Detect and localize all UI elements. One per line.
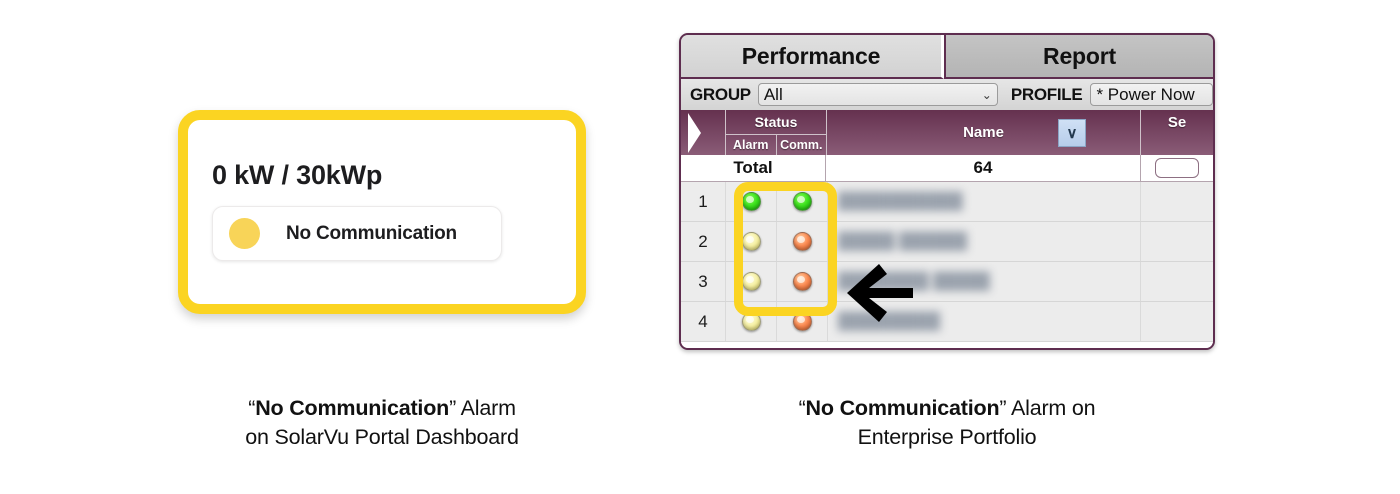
select-cell[interactable] [1141,182,1213,221]
tab-report-label: Report [1043,43,1116,70]
comm-status-cell[interactable] [777,262,828,301]
caption-right-quoted: No Communication [806,396,1000,420]
profile-select[interactable]: * Power Now [1090,83,1213,106]
tab-performance[interactable]: Performance [681,35,944,79]
caption-right: “No Communication” Alarm on Enterprise P… [679,394,1215,452]
total-row-label: Total [681,155,826,181]
select-cell[interactable] [1141,262,1213,301]
caption-right-rest: Alarm on [1006,396,1095,420]
name-column-header-label: Name [963,124,1004,141]
row-index: 3 [681,262,726,301]
select-cell[interactable] [1141,222,1213,261]
alarm-status-cell[interactable] [726,302,777,341]
status-dot-icon [229,218,260,249]
alarm-status-cell[interactable] [726,222,777,261]
table-row[interactable]: 4█████████ [681,302,1213,342]
portfolio-table: Status Alarm Comm. Name ∨ Se Total 64 [681,110,1213,348]
table-row[interactable]: 2█████ ██████ [681,222,1213,262]
filter-bar: GROUP All ⌄ PROFILE * Power Now [681,79,1213,110]
comm-status-led-orange-icon [793,312,812,331]
alarm-status-led-yellow-icon [742,272,761,291]
dashboard-card-content: 0 kW / 30kWp No Communication [212,162,552,261]
group-select-value: All [764,85,783,105]
dashboard-card: 0 kW / 30kWp No Communication [178,110,586,314]
alarm-status-cell[interactable] [726,182,777,221]
row-index: 1 [681,182,726,221]
comm-status-led-green-icon [793,192,812,211]
total-row-select-cell [1141,155,1213,181]
power-readout: 0 kW / 30kWp [212,162,552,189]
comm-status-cell[interactable] [777,182,828,221]
site-name-cell[interactable]: ███████████ [828,182,1141,221]
alarm-status-label: No Communication [286,223,457,245]
alarm-status-led-green-icon [742,192,761,211]
alarm-column-header[interactable]: Alarm [726,135,776,155]
table-body: 1███████████2█████ ██████3████████ █████… [681,182,1213,342]
select-cell[interactable] [1141,302,1213,341]
caption-left-line2: on SolarVu Portal Dashboard [245,425,518,449]
comm-status-led-orange-icon [793,232,812,251]
pointer-arrow-icon [845,260,915,326]
table-row[interactable]: 3████████ █████ [681,262,1213,302]
comm-status-cell[interactable] [777,222,828,261]
site-name-redacted: ███████████ [838,193,963,211]
enterprise-portfolio-panel: Performance Report GROUP All ⌄ PROFILE *… [679,33,1215,350]
table-header-row: Status Alarm Comm. Name ∨ Se [681,110,1213,155]
profile-label: PROFILE [1011,85,1083,105]
alarm-status-led-yellow-icon [742,232,761,251]
group-label: GROUP [690,85,751,105]
chevron-down-icon: ⌄ [982,89,992,101]
row-index-header [681,110,725,155]
name-sort-chevron-down-icon[interactable]: ∨ [1058,119,1086,147]
comm-status-led-orange-icon [793,272,812,291]
row-index: 4 [681,302,726,341]
row-index: 2 [681,222,726,261]
comm-status-cell[interactable] [777,302,828,341]
alarm-status-pill[interactable]: No Communication [212,206,502,261]
portfolio-window: Performance Report GROUP All ⌄ PROFILE *… [679,33,1215,350]
status-header-label: Status [726,110,826,135]
status-subheader-row: Alarm Comm. [726,135,826,155]
table-row[interactable]: 1███████████ [681,182,1213,222]
profile-select-value: * Power Now [1096,85,1194,105]
caption-left-quoted: No Communication [255,396,449,420]
caption-right-line1: “No Communication” Alarm on [799,396,1096,420]
status-header-group: Status Alarm Comm. [725,110,827,155]
caption-left-line1: “No Communication” Alarm [248,396,516,420]
caption-left: “No Communication” Alarm on SolarVu Port… [178,394,586,452]
comm-column-header[interactable]: Comm. [776,135,827,155]
tab-report[interactable]: Report [944,35,1213,79]
name-column-header[interactable]: Name ∨ [827,110,1141,155]
caption-right-line2: Enterprise Portfolio [858,425,1037,449]
caption-left-rest: Alarm [456,396,516,420]
alarm-status-cell[interactable] [726,262,777,301]
total-row-count: 64 [826,155,1141,181]
total-select-box[interactable] [1155,158,1199,178]
alarm-status-led-yellow-icon [742,312,761,331]
tab-performance-label: Performance [742,43,880,70]
group-select[interactable]: All ⌄ [758,83,998,106]
total-row: Total 64 [681,155,1213,182]
expand-arrow-icon[interactable] [688,113,701,153]
solarvu-dashboard-panel: 0 kW / 30kWp No Communication [178,110,586,314]
select-column-header[interactable]: Se [1141,110,1213,155]
site-name-redacted: █████ ██████ [838,233,967,251]
site-name-cell[interactable]: █████ ██████ [828,222,1141,261]
tab-strip: Performance Report [681,35,1213,79]
